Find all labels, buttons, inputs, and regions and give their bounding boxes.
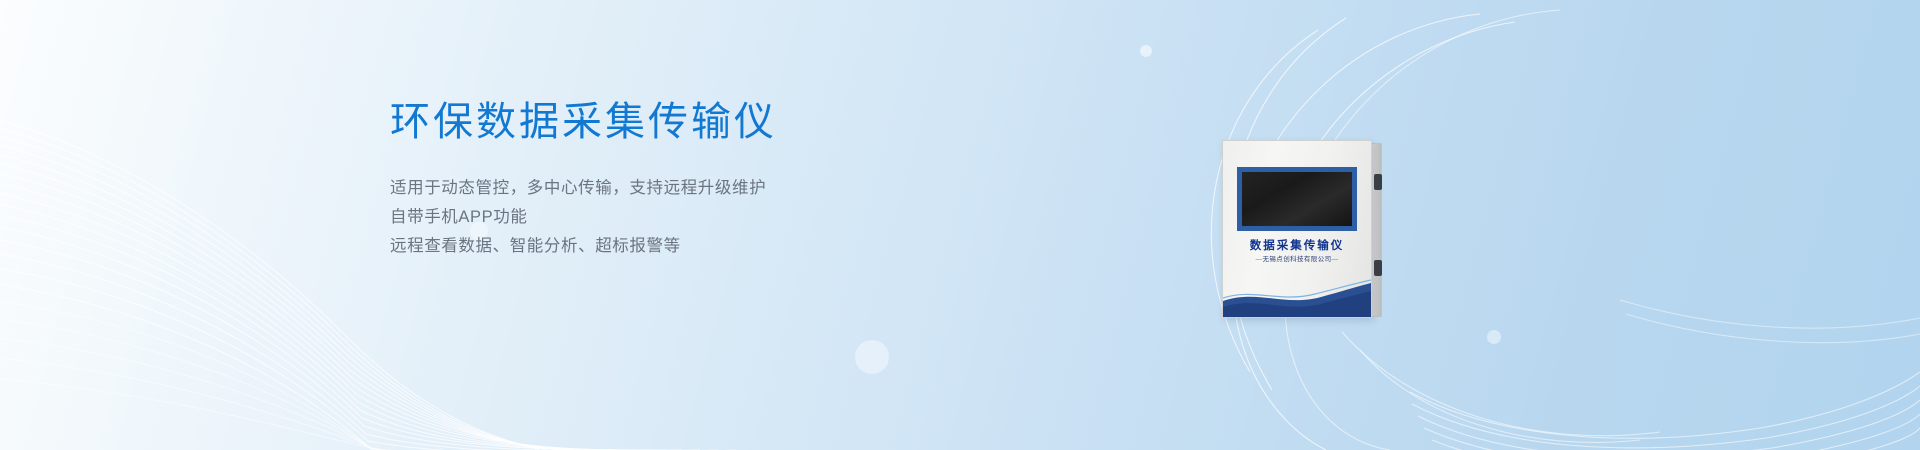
device-photo: 数据采集传输仪 —无锡点创科技有限公司—: [1222, 140, 1398, 316]
device-screen: [1242, 172, 1352, 226]
device-screen-bezel: [1237, 167, 1357, 231]
banner-subtitle-line-2: 自带手机APP功能: [390, 203, 990, 232]
device-front-panel: 数据采集传输仪 —无锡点创科技有限公司—: [1222, 140, 1372, 318]
banner-subtitle-line-3: 远程查看数据、智能分析、超标报警等: [390, 232, 990, 261]
device-company-label: —无锡点创科技有限公司—: [1223, 253, 1371, 263]
device-hinge: [1374, 260, 1382, 276]
device-hinge: [1374, 174, 1382, 190]
device-brand-label: 数据采集传输仪: [1223, 237, 1371, 253]
bokeh-circle: [855, 340, 889, 374]
banner-subtitle-list: 适用于动态管控，多中心传输，支持远程升级维护 自带手机APP功能 远程查看数据、…: [390, 174, 990, 261]
banner-title: 环保数据采集传输仪: [390, 96, 990, 148]
arc-rings-decoration: [1060, 0, 1920, 450]
device-footer-graphic: [1223, 277, 1371, 317]
banner-copy: 环保数据采集传输仪 适用于动态管控，多中心传输，支持远程升级维护 自带手机APP…: [390, 96, 990, 261]
product-hero-banner: 环保数据采集传输仪 适用于动态管控，多中心传输，支持远程升级维护 自带手机APP…: [0, 0, 1920, 450]
banner-subtitle-line-1: 适用于动态管控，多中心传输，支持远程升级维护: [390, 174, 990, 203]
product-showcase: 数据采集传输仪 —无锡点创科技有限公司—: [1060, 0, 1920, 450]
